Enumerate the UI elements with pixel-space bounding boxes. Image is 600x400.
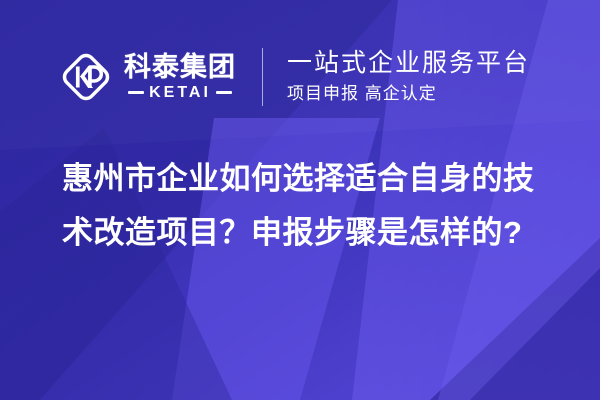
tagline-secondary: 项目申报 高企认定 [287, 84, 530, 104]
ketai-diamond-kp-logo-icon [58, 49, 114, 105]
promo-banner: 科泰集团 KETAI 一站式企业服务平台 项目申报 高企认定 惠州市企业如何选择… [0, 0, 600, 400]
dash-left-icon [128, 91, 144, 94]
brand-logo[interactable]: 科泰集团 KETAI [58, 49, 236, 105]
brand-name-en-row: KETAI [124, 85, 236, 101]
brand-name-cn: 科泰集团 [124, 53, 236, 81]
brand-name-en: KETAI [149, 85, 211, 101]
vertical-divider [262, 48, 263, 106]
tagline-primary: 一站式企业服务平台 [287, 49, 530, 78]
headline-line-1: 惠州市企业如何选择适合自身的技 [62, 152, 548, 206]
headline-line-2: 术改造项目？申报步骤是怎样的? [62, 206, 548, 260]
banner-header: 科泰集团 KETAI 一站式企业服务平台 项目申报 高企认定 [0, 34, 600, 120]
brand-wordmark: 科泰集团 KETAI [124, 53, 236, 100]
headline: 惠州市企业如何选择适合自身的技 术改造项目？申报步骤是怎样的? [62, 152, 548, 260]
tagline-group: 一站式企业服务平台 项目申报 高企认定 [287, 49, 530, 104]
dash-right-icon [216, 91, 232, 94]
